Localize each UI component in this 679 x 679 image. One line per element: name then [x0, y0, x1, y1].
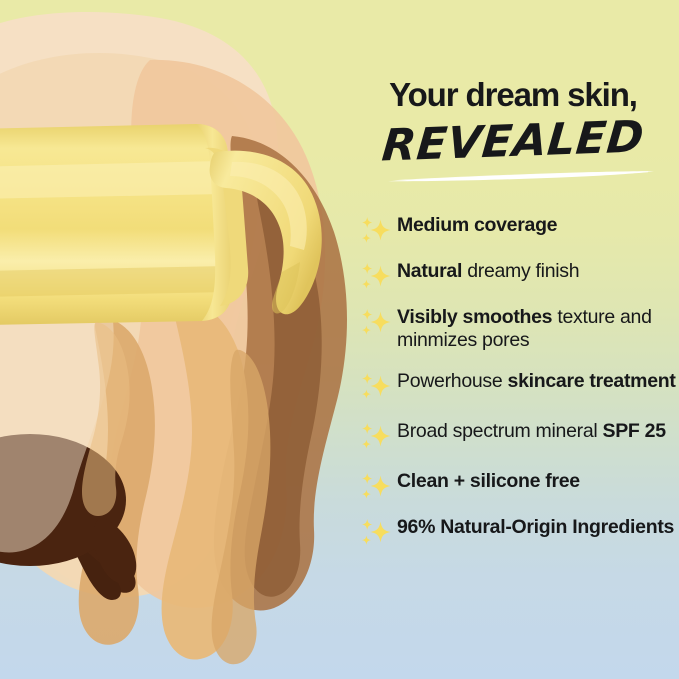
feature-text-bold: Clean + silicone free	[397, 470, 580, 492]
feature-item: Broad spectrum mineral SPF 25	[360, 419, 678, 452]
feature-text-regular: dreamy finish	[467, 260, 579, 282]
feature-text-bold: Natural	[397, 260, 467, 282]
headline-block: Your dream skin, REVEALED	[352, 78, 674, 172]
feature-item-label: 96% Natural-Origin Ingredients	[397, 515, 678, 539]
feature-item-label: Powerhouse skincare treatment	[397, 369, 678, 393]
feature-text-bold: skincare treatment	[508, 370, 676, 392]
feature-item-label: Medium coverage	[397, 213, 678, 237]
feature-item-label: Clean + silicone free	[397, 469, 678, 493]
feature-item-label: Natural dreamy finish	[397, 259, 678, 283]
sparkle-icon	[360, 372, 394, 402]
sparkle-icon	[360, 472, 394, 502]
feature-text-regular: Broad spectrum mineral	[397, 420, 603, 442]
sparkle-icon	[360, 262, 394, 292]
brush-stroke-underline-icon	[386, 168, 656, 184]
headline-line-2-wrapper: REVEALED	[352, 120, 674, 172]
copy-column: Your dream skin, REVEALED Medium coverag…	[352, 0, 679, 679]
feature-item: Clean + silicone free	[360, 469, 678, 502]
sparkle-icon	[360, 518, 394, 548]
feature-text-bold: Medium coverage	[397, 214, 557, 236]
feature-text-bold: SPF 25	[603, 420, 666, 442]
headline-line-1: Your dream skin,	[352, 78, 674, 111]
feature-text-bold: 96% Natural-Origin Ingredients	[397, 516, 674, 538]
headline-line-2: REVEALED	[349, 114, 676, 169]
feature-item-label: Broad spectrum mineral SPF 25	[397, 419, 678, 443]
tube-highlight	[0, 161, 222, 200]
feature-text-bold: Visibly smoothes	[397, 306, 557, 328]
product-feature-card: Your dream skin, REVEALED Medium coverag…	[0, 0, 679, 679]
feature-item-label: Visibly smoothes texture and minmizes po…	[397, 305, 678, 352]
sparkle-icon	[360, 422, 394, 452]
feature-item: Powerhouse skincare treatment	[360, 369, 678, 402]
feature-item: Medium coverage	[360, 213, 678, 246]
feature-item: Natural dreamy finish	[360, 259, 678, 292]
sparkle-icon	[360, 216, 394, 246]
sparkle-icon	[360, 308, 394, 338]
feature-item: 96% Natural-Origin Ingredients	[360, 515, 678, 548]
feature-item: Visibly smoothes texture and minmizes po…	[360, 305, 678, 352]
feature-list: Medium coverage Natural dreamy finish Vi…	[360, 213, 678, 561]
feature-text-regular: Powerhouse	[397, 370, 508, 392]
artwork-svg	[0, 0, 360, 679]
product-artwork	[0, 0, 360, 679]
